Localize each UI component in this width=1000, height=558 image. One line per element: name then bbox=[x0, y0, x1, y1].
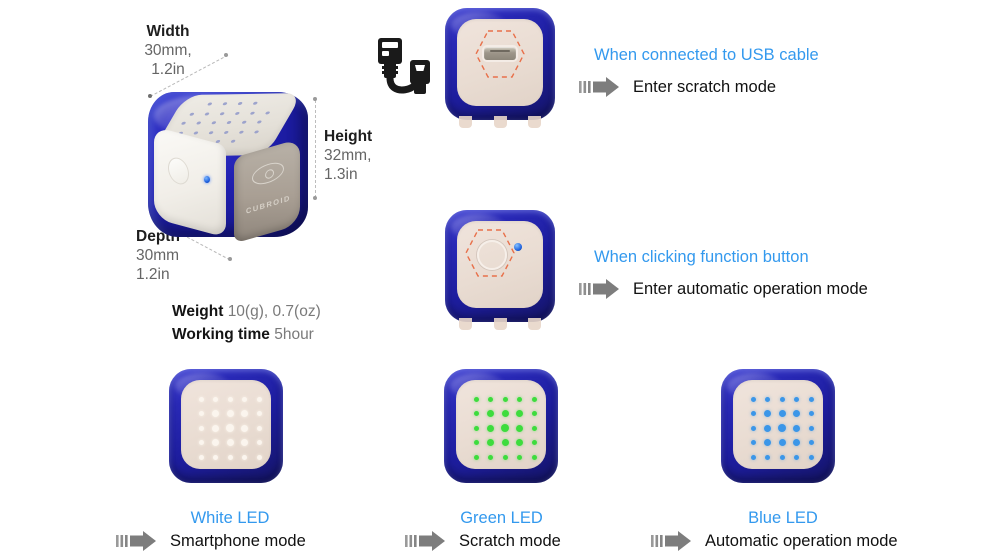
function-button-callout: When clicking function button Enter auto… bbox=[594, 248, 868, 300]
weight-spec: Weight 10(g), 0.7(oz) bbox=[172, 300, 321, 323]
working-time-spec-value: 5hour bbox=[274, 326, 314, 343]
white-led-title: White LED bbox=[115, 509, 345, 528]
green-led-mode: Green LED Scratch mode bbox=[404, 509, 599, 552]
arrow-right-icon bbox=[404, 530, 450, 552]
width-dimension-mm: 30mm, bbox=[116, 41, 220, 60]
blue-led-title: Blue LED bbox=[650, 509, 916, 528]
cube-function-view bbox=[445, 210, 555, 322]
arrow-right-icon bbox=[578, 76, 624, 98]
depth-dimension-in: 1.2in bbox=[136, 265, 232, 284]
micro-usb-port-icon bbox=[484, 47, 516, 60]
depth-dimension-mm: 30mm bbox=[136, 246, 232, 265]
working-time-spec-label: Working time bbox=[172, 326, 270, 343]
depth-leader-dot-end bbox=[228, 257, 232, 261]
function-button-icon bbox=[477, 240, 507, 270]
usb-callout-title: When connected to USB cable bbox=[594, 46, 819, 65]
height-dimension-title: Height bbox=[324, 127, 398, 146]
weight-spec-value: 10(g), 0.7(oz) bbox=[228, 303, 321, 320]
status-led-icon bbox=[514, 243, 522, 251]
cube-blue-led-view bbox=[721, 369, 835, 483]
width-dimension-title: Width bbox=[116, 22, 220, 41]
white-led-mode: White LED Smartphone mode bbox=[115, 509, 345, 552]
green-led-mode-text: Scratch mode bbox=[459, 532, 561, 551]
function-callout-row: Enter automatic operation mode bbox=[578, 278, 868, 300]
function-callout-title: When clicking function button bbox=[594, 248, 868, 267]
usb-callout-action: Enter scratch mode bbox=[633, 78, 776, 97]
usb-callout: When connected to USB cable Enter scratc… bbox=[594, 46, 819, 98]
width-dimension-in: 1.2in bbox=[116, 60, 220, 79]
arrow-right-icon bbox=[650, 530, 696, 552]
blue-led-mode: Blue LED Automatic operation mode bbox=[650, 509, 916, 552]
led-matrix-white bbox=[195, 393, 257, 455]
white-led-row: Smartphone mode bbox=[115, 530, 345, 552]
function-callout-action: Enter automatic operation mode bbox=[633, 280, 868, 299]
green-led-row: Scratch mode bbox=[404, 530, 599, 552]
arrow-right-icon bbox=[578, 278, 624, 300]
height-dimension-in: 1.3in bbox=[324, 165, 398, 184]
spec-list: Weight 10(g), 0.7(oz) Working time 5hour bbox=[172, 300, 321, 346]
width-dimension: Width 30mm, 1.2in bbox=[116, 22, 220, 79]
blue-led-mode-text: Automatic operation mode bbox=[705, 532, 898, 551]
usb-cable-icon bbox=[368, 32, 436, 115]
led-matrix-green bbox=[470, 393, 532, 455]
cube-function-feet bbox=[459, 318, 541, 330]
working-time-spec: Working time 5hour bbox=[172, 323, 321, 346]
height-dimension-mm: 32mm, bbox=[324, 146, 398, 165]
usb-callout-row: Enter scratch mode bbox=[578, 76, 819, 98]
white-led-mode-text: Smartphone mode bbox=[170, 532, 306, 551]
status-led-icon bbox=[204, 176, 210, 183]
infographic-canvas: Width 30mm, 1.2in Height 32mm, 1.3in Dep… bbox=[0, 0, 1000, 558]
cube-usb-feet bbox=[459, 116, 541, 128]
cube-usb-view bbox=[445, 8, 555, 120]
blue-led-row: Automatic operation mode bbox=[650, 530, 916, 552]
cube-3d-illustration: CUBROID bbox=[140, 78, 320, 248]
led-matrix-blue bbox=[747, 393, 809, 455]
cube-3d-body: CUBROID bbox=[148, 92, 308, 237]
cube-green-led-view bbox=[444, 369, 558, 483]
cube-white-led-view bbox=[169, 369, 283, 483]
width-leader-dot-end bbox=[224, 53, 228, 57]
green-led-title: Green LED bbox=[404, 509, 599, 528]
height-dimension: Height 32mm, 1.3in bbox=[324, 127, 398, 184]
weight-spec-label: Weight bbox=[172, 303, 223, 320]
arrow-right-icon bbox=[115, 530, 161, 552]
